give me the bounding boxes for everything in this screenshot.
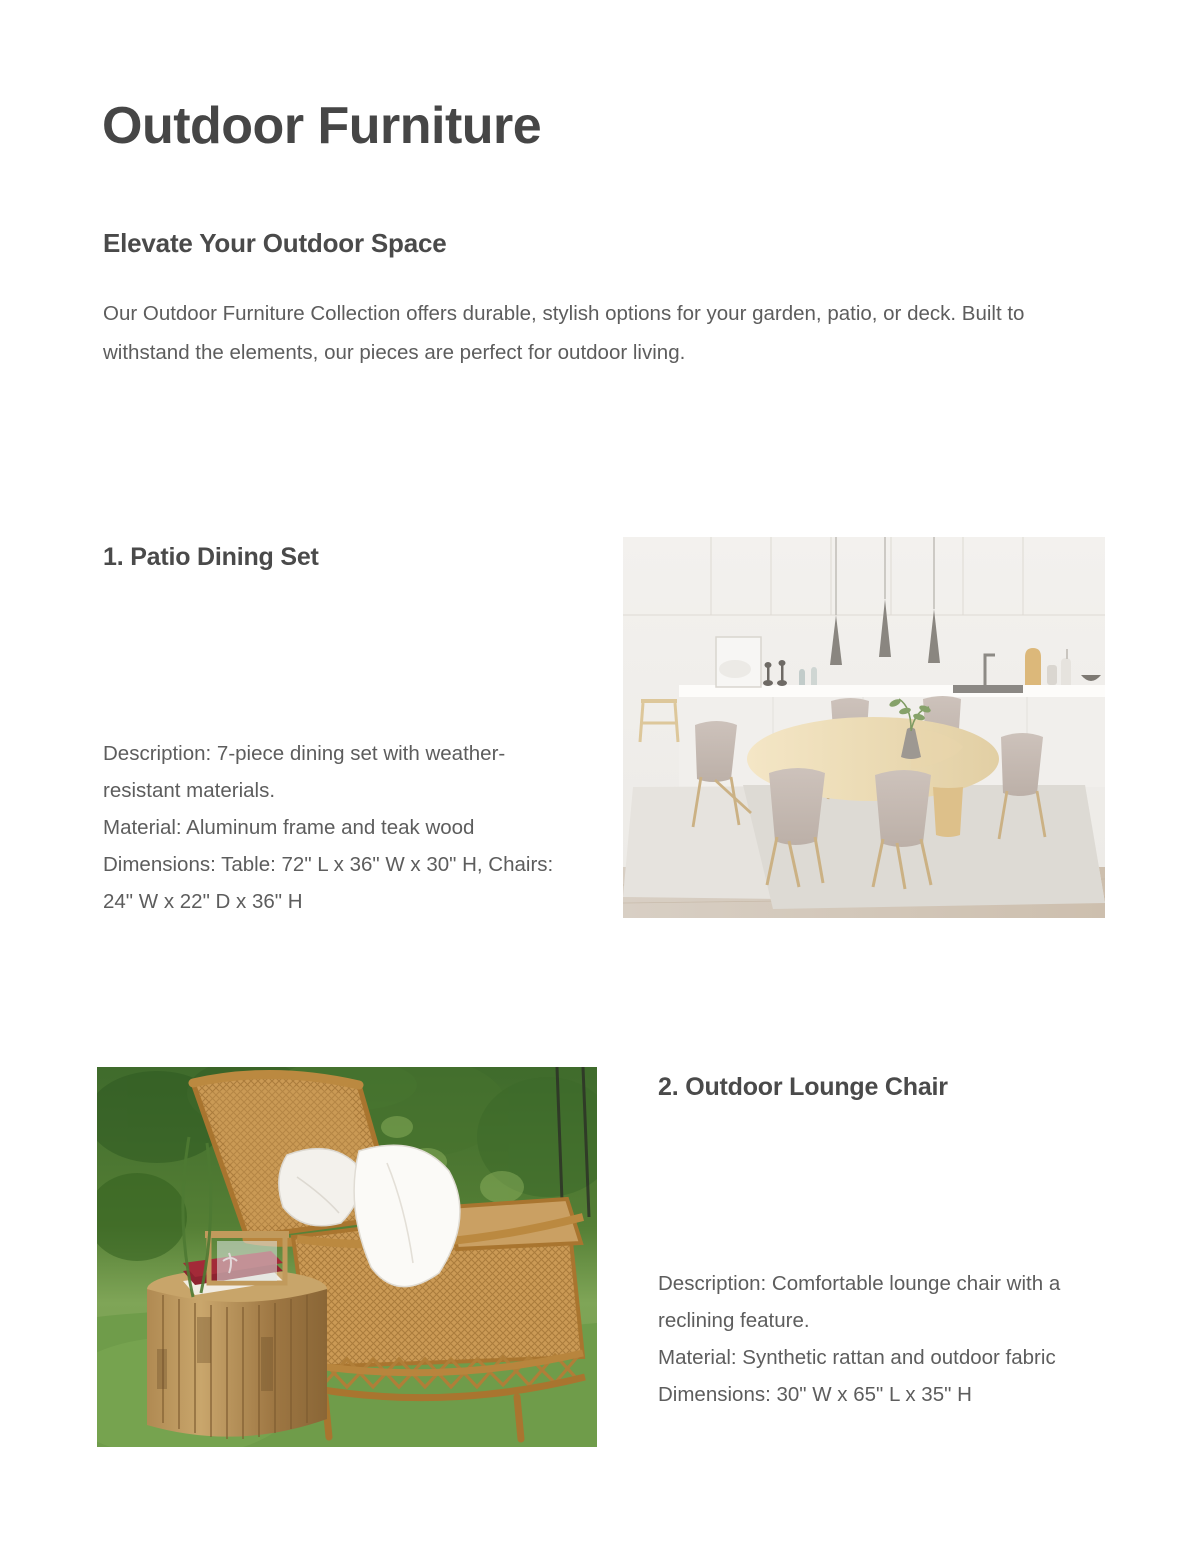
- document-page: Outdoor Furniture Elevate Your Outdoor S…: [0, 0, 1200, 1552]
- product-2-description: Description: Comfortable lounge chair wi…: [658, 1265, 1118, 1339]
- intro-paragraph: Our Outdoor Furniture Collection offers …: [103, 294, 1063, 372]
- product-1-details: Description: 7-piece dining set with wea…: [103, 735, 573, 920]
- product-2-dimensions: Dimensions: 30" W x 65" L x 35" H: [658, 1376, 1118, 1413]
- product-2-heading: 2. Outdoor Lounge Chair: [658, 1073, 948, 1102]
- product-2-details: Description: Comfortable lounge chair wi…: [658, 1265, 1118, 1413]
- product-1-image: [623, 537, 1105, 918]
- page-subtitle: Elevate Your Outdoor Space: [103, 228, 447, 259]
- product-1-material: Material: Aluminum frame and teak wood: [103, 809, 573, 846]
- page-title: Outdoor Furniture: [102, 97, 541, 157]
- product-2-material: Material: Synthetic rattan and outdoor f…: [658, 1339, 1118, 1376]
- product-2-image: [97, 1067, 597, 1447]
- product-1-description: Description: 7-piece dining set with wea…: [103, 735, 573, 809]
- product-1-heading: 1. Patio Dining Set: [103, 543, 319, 572]
- product-1-dimensions: Dimensions: Table: 72" L x 36" W x 30" H…: [103, 846, 573, 920]
